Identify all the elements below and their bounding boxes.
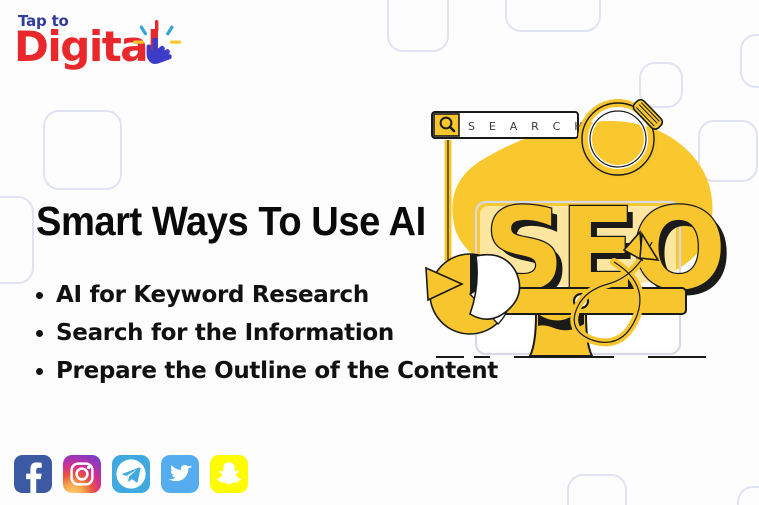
facebook-icon [14, 455, 52, 493]
decorative-rounded-square [740, 34, 759, 88]
search-bar: S E A R C H [432, 112, 588, 138]
social-link-facebook[interactable] [14, 455, 52, 493]
brand-logo[interactable]: Tap to Digital [14, 12, 194, 74]
decorative-rounded-square [737, 486, 759, 505]
decorative-rounded-square [387, 0, 449, 52]
page-title: Smart Ways To Use AI [36, 198, 426, 245]
decorative-rounded-square [505, 0, 601, 32]
social-link-telegram[interactable] [112, 455, 150, 493]
decorative-rounded-square [0, 196, 34, 284]
seo-monitor-illustration: SEO SEO S E A R C H [418, 84, 759, 366]
social-links [14, 455, 248, 493]
search-bar-text: S E A R C H [468, 120, 588, 133]
decorative-rounded-square [567, 474, 627, 505]
decorative-rounded-square [43, 110, 122, 190]
social-link-instagram[interactable] [63, 455, 101, 493]
seo-promo-graphic: Tap to Digital Smart Ways To Use AI AI f… [0, 0, 759, 505]
pointing-hand-cursor-icon [132, 20, 182, 72]
social-link-snapchat[interactable] [210, 455, 248, 493]
instagram-icon [63, 455, 101, 493]
twitter-icon [161, 455, 199, 493]
social-link-twitter[interactable] [161, 455, 199, 493]
telegram-icon [112, 455, 150, 493]
snapchat-icon [210, 455, 248, 493]
